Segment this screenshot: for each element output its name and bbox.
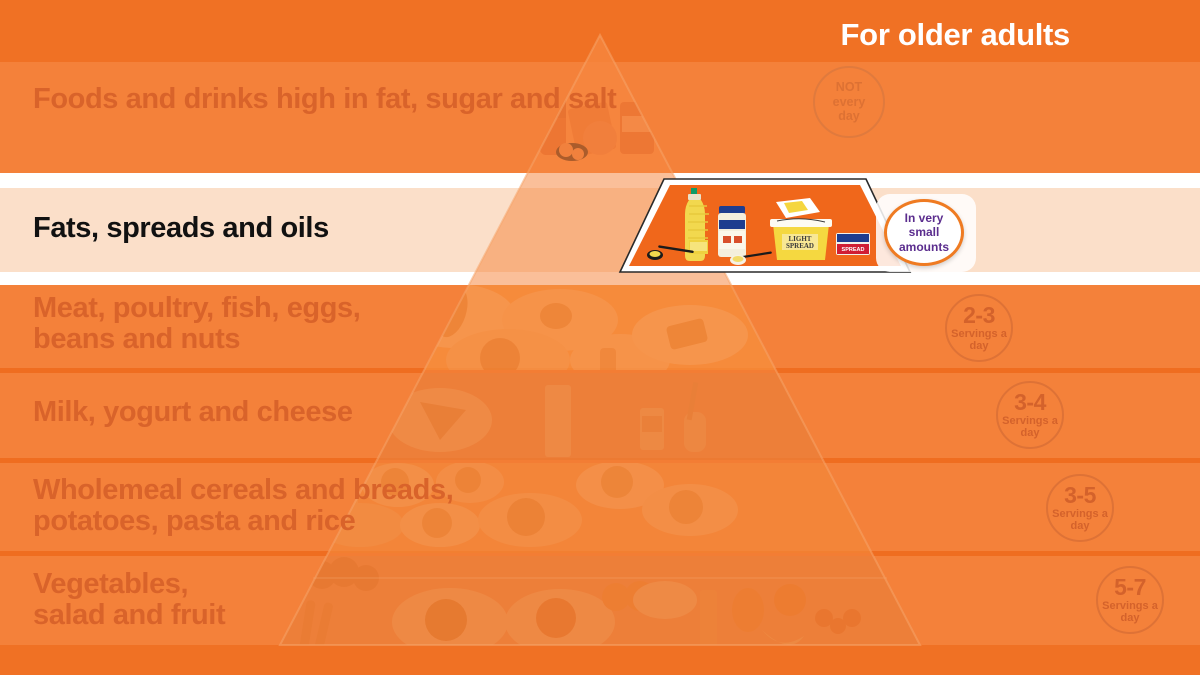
badge-servings-starch-sub: Servings a day [1048,509,1112,532]
svg-text:SPREAD: SPREAD [786,242,814,250]
badge-fats-line3: amounts [899,240,949,255]
row-label-fats-spreads-oils: Fats, spreads and oils [33,212,329,245]
light-spread-tub: LIGHT SPREAD [770,219,832,260]
badge-not-every-day-line2: every [833,95,866,110]
badge-not-every-day-line1: NOT [836,80,862,95]
row-label-vegetables: Vegetables, salad and fruit [33,569,225,631]
footer-band [0,645,1200,675]
badge-fats-line2: small [909,225,940,240]
highlight-gap-top [0,173,1200,188]
badge-in-very-small-amounts: In very small amounts [884,199,964,266]
badge-servings-vegetables-amount: 5-7 [1114,576,1146,599]
badge-servings-protein: 2-3 Servings a day [945,294,1013,362]
row-label-top-shelf: Foods and drinks high in fat, sugar and … [33,84,616,115]
badge-servings-vegetables: 5-7 Servings a day [1096,566,1164,634]
badge-servings-protein-sub: Servings a day [947,329,1011,352]
fats-tray-illustration: LIGHT SPREAD SPREAD [610,176,920,276]
row-band-top-shelf [0,62,1200,173]
badge-not-every-day-line3: day [838,109,860,124]
badge-not-every-day: NOT every day [813,66,885,138]
infographic-canvas: For older adults Foods and drinks high i… [0,0,1200,675]
svg-text:SPREAD: SPREAD [842,247,865,253]
mayonnaise-jar [718,206,746,257]
badge-servings-protein-amount: 2-3 [963,304,995,327]
badge-servings-dairy: 3-4 Servings a day [996,381,1064,449]
highlight-gap-bottom [0,272,1200,285]
badge-servings-starch-amount: 3-5 [1064,484,1096,507]
badge-servings-dairy-amount: 3-4 [1014,391,1046,414]
row-label-starch: Wholemeal cereals and breads, potatoes, … [33,475,453,537]
page-title: For older adults [0,17,1070,53]
row-label-protein: Meat, poultry, fish, eggs, beans and nut… [33,293,360,355]
badge-fats-line1: In very [905,211,944,226]
reduced-fat-spread-pack: SPREAD [836,233,870,255]
badge-servings-starch: 3-5 Servings a day [1046,474,1114,542]
row-label-dairy: Milk, yogurt and cheese [33,397,353,428]
badge-servings-dairy-sub: Servings a day [998,416,1062,439]
badge-servings-vegetables-sub: Servings a day [1098,601,1162,624]
